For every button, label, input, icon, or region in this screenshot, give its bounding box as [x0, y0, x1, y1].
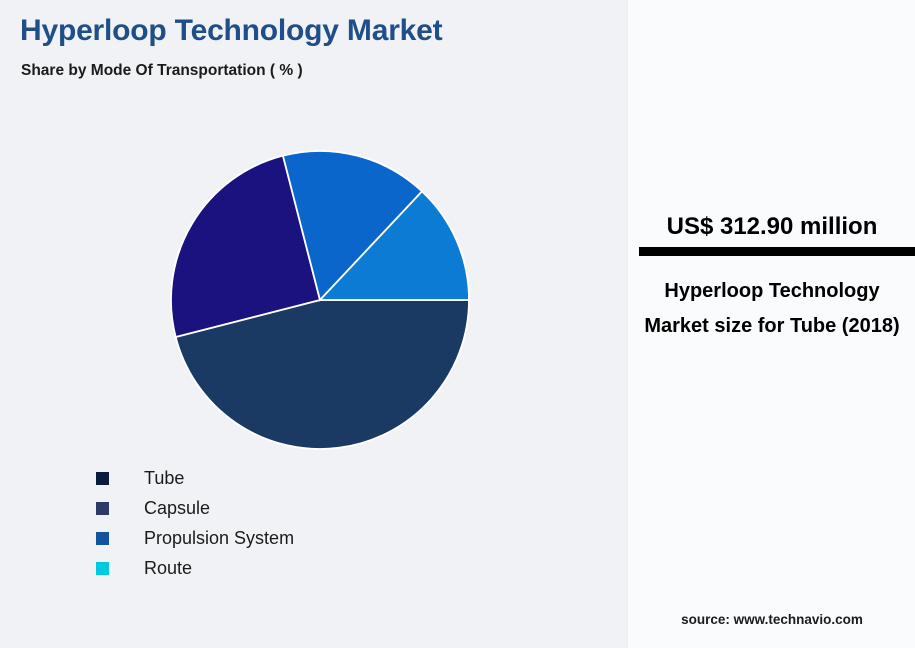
legend-swatch-capsule: [96, 502, 109, 515]
kpi-value: US$ 312.90 million: [628, 213, 915, 241]
legend-swatch-tube: [96, 472, 109, 485]
legend-label-propulsion-system: Propulsion System: [144, 528, 294, 549]
legend-label-capsule: Capsule: [144, 498, 210, 519]
page-title: Hyperloop Technology Market: [20, 14, 442, 48]
kpi-panel: US$ 312.90 million Hyperloop Technology …: [627, 0, 915, 648]
pie-chart-svg: [170, 150, 470, 450]
source-note: source: www.technavio.com: [628, 612, 915, 627]
kpi-caption: Hyperloop Technology Market size for Tub…: [642, 274, 902, 344]
infographic-root: Hyperloop Technology Market Share by Mod…: [0, 0, 915, 648]
legend-label-route: Route: [144, 558, 192, 579]
legend-swatch-propulsion-system: [96, 532, 109, 545]
pie-slice-group: [171, 151, 469, 449]
legend-item-capsule[interactable]: Capsule: [96, 493, 516, 523]
legend-item-propulsion-system[interactable]: Propulsion System: [96, 523, 516, 553]
legend-swatch-route: [96, 562, 109, 575]
legend-item-tube[interactable]: Tube: [96, 463, 516, 493]
legend-item-route[interactable]: Route: [96, 553, 516, 583]
chart-subtitle: Share by Mode Of Transportation ( % ): [21, 62, 303, 80]
chart-panel: Hyperloop Technology Market Share by Mod…: [0, 0, 627, 648]
pie-chart: [170, 150, 470, 450]
legend-label-tube: Tube: [144, 468, 184, 489]
chart-legend: Tube Capsule Propulsion System Route: [96, 463, 516, 583]
kpi-divider: [639, 247, 915, 256]
